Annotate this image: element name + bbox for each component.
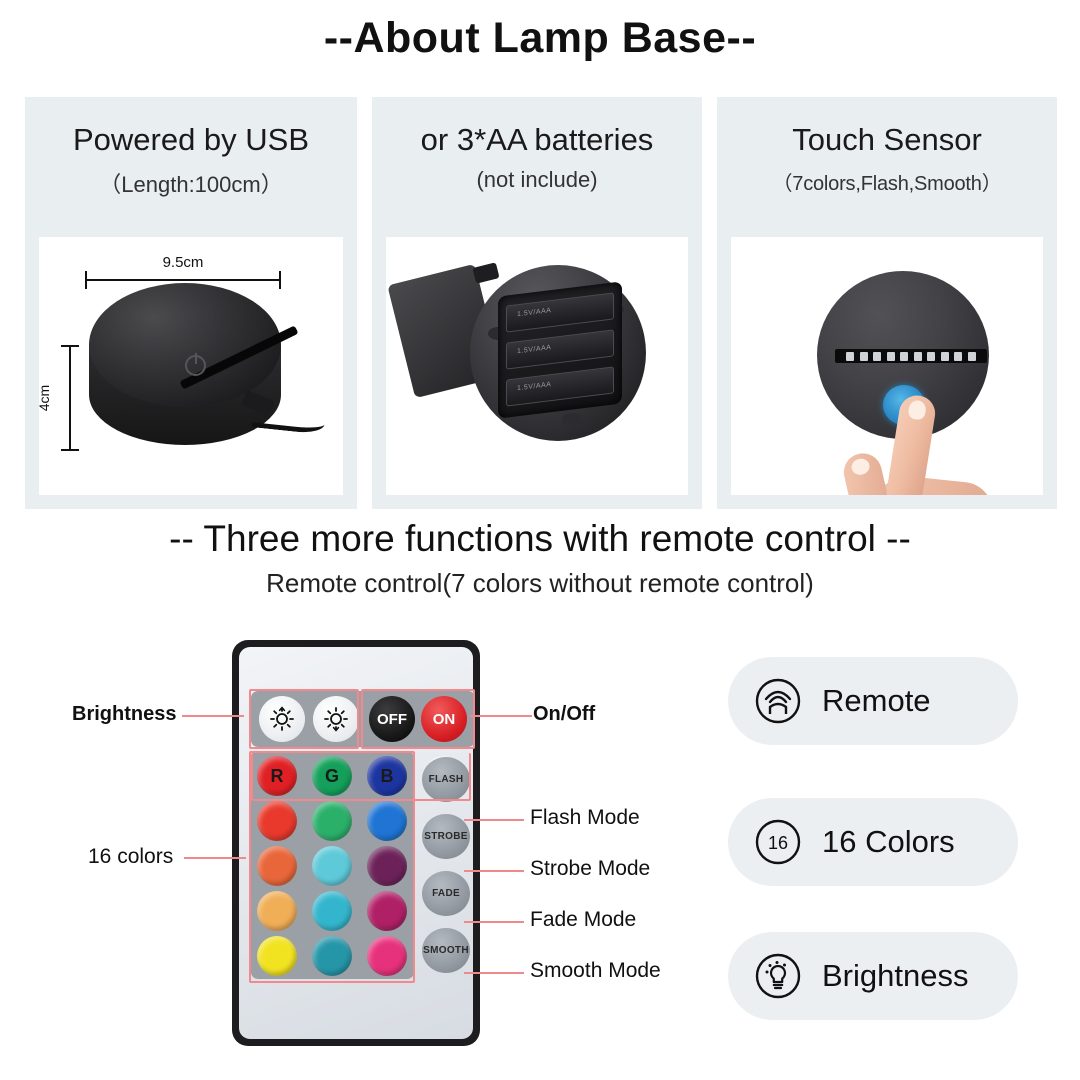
sun-up-icon [269, 706, 295, 732]
power-on-button[interactable]: ON [421, 696, 467, 742]
color-button-5[interactable] [312, 846, 352, 886]
battery-compartment-photo: 1.5V/AAA 1.5V/AAA 1.5V/AAA [386, 237, 688, 495]
remote-faceplate: OFF ON R G B W [239, 647, 473, 1039]
color-button-11[interactable] [312, 936, 352, 976]
lamp-base-photo: 9.5cm 4cm [39, 237, 343, 495]
mode-button-column: FLASH STROBE FADE SMOOTH [420, 757, 475, 979]
led-strip [835, 349, 987, 363]
dimension-bar [69, 345, 71, 451]
panel-subtitle: （7colors,Flash,Smooth） [717, 167, 1057, 196]
color-button-10[interactable] [257, 936, 297, 976]
led-dot [914, 352, 922, 361]
color-button-4[interactable] [257, 846, 297, 886]
color-button-g[interactable]: G [312, 756, 352, 796]
remote-section-subtitle: Remote control(7 colors without remote c… [0, 568, 1080, 599]
panel-header: or 3*AA batteries (not include) [372, 97, 702, 193]
sixteen-badge-text: 16 [768, 833, 788, 853]
dimension-cap-bottom [61, 449, 79, 451]
feature-card-remote: Remote [728, 657, 1018, 745]
power-symbol-icon [185, 355, 206, 376]
panel-title: Powered by USB [25, 123, 357, 158]
infographic-root: --About Lamp Base-- Powered by USB （Leng… [0, 0, 1080, 1080]
finger-nail [907, 399, 927, 420]
remote-control: OFF ON R G B W [232, 640, 480, 1046]
feature-card-brightness: Brightness [728, 932, 1018, 1020]
brightness-bulb-icon [754, 952, 802, 1000]
mode-button-fade[interactable]: FADE [422, 871, 470, 916]
mode-button-strobe[interactable]: STROBE [422, 814, 470, 859]
led-dot [968, 352, 976, 361]
battery-slot: 1.5V/AAA [506, 329, 614, 369]
width-dimension-label: 9.5cm [85, 254, 281, 271]
annotation-onoff: On/Off [533, 703, 595, 726]
height-dimension: 4cm [57, 345, 81, 451]
battery-slot: 1.5V/AAA [506, 366, 614, 406]
leader-line-colors [184, 857, 246, 859]
color-button-12[interactable] [367, 936, 407, 976]
annotation-brightness: Brightness [72, 703, 176, 726]
leader-line-fade [464, 921, 524, 923]
rubber-foot [562, 413, 582, 426]
sixteen-circle-icon: 16 [754, 818, 802, 866]
leader-line-strobe [464, 870, 524, 872]
battery-slot-label: 1.5V/AAA [517, 344, 551, 355]
panel-subtitle: (not include) [372, 167, 702, 193]
dimension-cap-right [279, 271, 281, 289]
led-dot [846, 352, 854, 361]
page-title: --About Lamp Base-- [0, 14, 1080, 63]
battery-cover-tab [472, 262, 499, 283]
feature-card-16-colors: 16 16 Colors [728, 798, 1018, 886]
annotation-smooth-mode: Smooth Mode [530, 959, 661, 983]
annotation-strobe-mode: Strobe Mode [530, 857, 650, 881]
color-button-8[interactable] [312, 891, 352, 931]
panel-title: Touch Sensor [717, 123, 1057, 158]
led-dot [900, 352, 908, 361]
battery-slot-label: 1.5V/AAA [517, 381, 551, 392]
hand-illustration [849, 395, 1009, 495]
brightness-down-button[interactable] [313, 696, 359, 742]
color-button-3[interactable] [367, 801, 407, 841]
color-button-7[interactable] [257, 891, 297, 931]
panel-title: or 3*AA batteries [372, 123, 702, 158]
color-button-1[interactable] [257, 801, 297, 841]
battery-slot-label: 1.5V/AAA [517, 307, 551, 318]
led-dot [860, 352, 868, 361]
color-button-6[interactable] [367, 846, 407, 886]
feature-card-label: 16 Colors [822, 824, 955, 860]
leader-line-smooth [464, 972, 524, 974]
color-button-r[interactable]: R [257, 756, 297, 796]
color-button-9[interactable] [367, 891, 407, 931]
brightness-up-button[interactable] [259, 696, 305, 742]
height-dimension-label: 4cm [39, 385, 52, 411]
color-button-pad: R G B [251, 751, 414, 979]
top-button-pad: OFF ON [251, 691, 475, 747]
led-dot [941, 352, 949, 361]
remote-section-title: -- Three more functions with remote cont… [0, 518, 1080, 560]
leader-line-flash [464, 819, 524, 821]
battery-slot: 1.5V/AAA [506, 292, 614, 332]
mode-button-flash[interactable]: FLASH [422, 757, 470, 802]
panel-header: Touch Sensor （7colors,Flash,Smooth） [717, 97, 1057, 196]
dimension-bar [85, 279, 281, 281]
thumb-nail [850, 457, 871, 477]
lamp-base-top [89, 283, 281, 407]
led-dot [927, 352, 935, 361]
panel-header: Powered by USB （Length:100cm） [25, 97, 357, 199]
remote-signal-icon [754, 677, 802, 725]
feature-panels: Powered by USB （Length:100cm） 9.5cm 4cm [25, 97, 1057, 509]
leader-line-brightness [182, 715, 244, 717]
thumb [840, 450, 892, 495]
dimension-cap-left [85, 271, 87, 289]
battery-well: 1.5V/AAA 1.5V/AAA 1.5V/AAA [498, 281, 622, 418]
touch-sensor-photo [731, 237, 1043, 495]
panel-touch-sensor: Touch Sensor （7colors,Flash,Smooth） [717, 97, 1057, 509]
panel-subtitle: （Length:100cm） [25, 167, 357, 199]
panel-powered-by-usb: Powered by USB （Length:100cm） 9.5cm 4cm [25, 97, 357, 509]
mode-button-smooth[interactable]: SMOOTH [422, 928, 470, 973]
annotation-16-colors: 16 colors [88, 845, 173, 869]
leader-line-onoff [470, 715, 532, 717]
color-button-b[interactable]: B [367, 756, 407, 796]
led-dot [887, 352, 895, 361]
led-dot [954, 352, 962, 361]
panel-aa-batteries: or 3*AA batteries (not include) 1.5V/AAA… [372, 97, 702, 509]
annotation-fade-mode: Fade Mode [530, 908, 636, 932]
led-dot [873, 352, 881, 361]
dimension-cap-top [61, 345, 79, 347]
annotation-flash-mode: Flash Mode [530, 806, 640, 830]
feature-card-label: Brightness [822, 958, 968, 994]
usb-cable [252, 401, 326, 434]
color-button-2[interactable] [312, 801, 352, 841]
sun-down-icon [323, 706, 349, 732]
feature-card-label: Remote [822, 683, 931, 719]
power-off-button[interactable]: OFF [369, 696, 415, 742]
